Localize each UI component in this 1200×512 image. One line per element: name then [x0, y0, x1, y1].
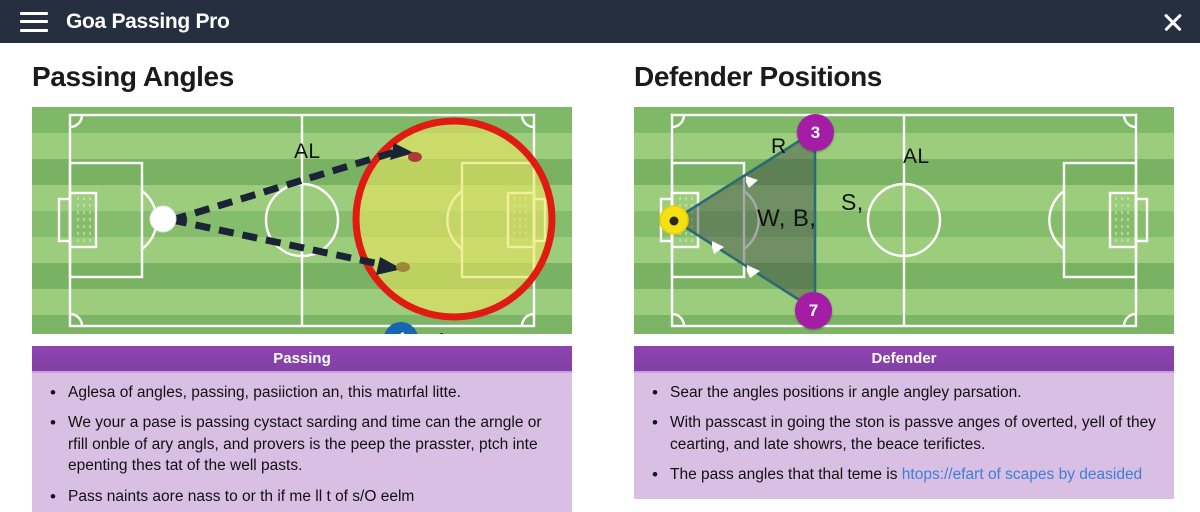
panel-passing-angles: Passing Angles	[0, 43, 600, 512]
content-area: Passing Angles	[0, 43, 1200, 512]
pitch-diagram-defender[interactable]: R AL W, B, S, 3 7	[634, 107, 1174, 334]
pitch-label-right-2: W, B,	[757, 205, 816, 233]
section-header-defender-label: Defender	[871, 350, 936, 367]
player-marker-4-label: 4	[396, 329, 405, 334]
hamburger-bar	[20, 29, 48, 32]
list-item: With passcast in going the ston is passv…	[648, 412, 1160, 455]
player-marker-7-label: 7	[809, 301, 818, 321]
player-marker-3-label: 3	[811, 123, 820, 143]
passing-bullet-list: Aglesa of angles, passing, pasiiction an…	[46, 382, 558, 507]
page-title-right: Defender Positions	[634, 61, 1184, 93]
player-marker-3[interactable]: 3	[797, 114, 834, 151]
page-title-left: Passing Angles	[32, 61, 566, 93]
hamburger-icon[interactable]	[20, 12, 48, 32]
defender-bullet-list: Sear the angles positions ir angle angle…	[648, 382, 1160, 486]
pass-target-lower	[396, 262, 410, 272]
section-header-passing-label: Passing	[273, 350, 331, 367]
panel-defender-positions: Defender Positions	[600, 43, 1200, 512]
section-header-defender: Defender	[634, 346, 1174, 373]
ball-center-dot	[670, 217, 679, 226]
pitch-label-right-0: R	[771, 135, 787, 159]
pitch-svg-right	[634, 107, 1174, 334]
list-item: Pass naints aore nass to or th if me ll …	[46, 486, 558, 507]
pitch-label-left-0: AL	[294, 140, 321, 164]
list-item: The pass angles that thal teme is htops:…	[648, 464, 1160, 485]
player-marker-7[interactable]: 7	[795, 292, 832, 329]
reference-link[interactable]: htops://efart of scapes by deasided	[902, 466, 1142, 483]
list-item-text: The pass angles that thal teme is	[670, 466, 902, 483]
ball-marker[interactable]	[150, 206, 176, 232]
close-icon[interactable]	[1160, 9, 1186, 35]
list-item: Sear the angles positions ir angle angle…	[648, 382, 1160, 403]
pitch-diagram-passing[interactable]: AL Cl 4	[32, 107, 572, 334]
hamburger-bar	[20, 12, 48, 15]
list-item: We your a pase is passing cystact sardin…	[46, 412, 558, 476]
hamburger-bar	[20, 20, 48, 23]
pitch-label-right-3: S,	[841, 189, 864, 216]
list-item: Aglesa of angles, passing, pasiiction an…	[46, 382, 558, 403]
app-header: Goa Passing Pro	[0, 0, 1200, 43]
section-header-passing: Passing	[32, 346, 572, 373]
pass-target-upper	[408, 152, 422, 162]
defender-notes-box: Sear the angles positions ir angle angle…	[634, 373, 1174, 499]
pitch-label-left-1: Cl	[422, 329, 445, 334]
pitch-label-right-1: AL	[903, 145, 930, 169]
passing-notes-box: Aglesa of angles, passing, pasiiction an…	[32, 373, 572, 512]
app-title: Goa Passing Pro	[66, 10, 230, 34]
highlight-circle	[356, 121, 552, 317]
